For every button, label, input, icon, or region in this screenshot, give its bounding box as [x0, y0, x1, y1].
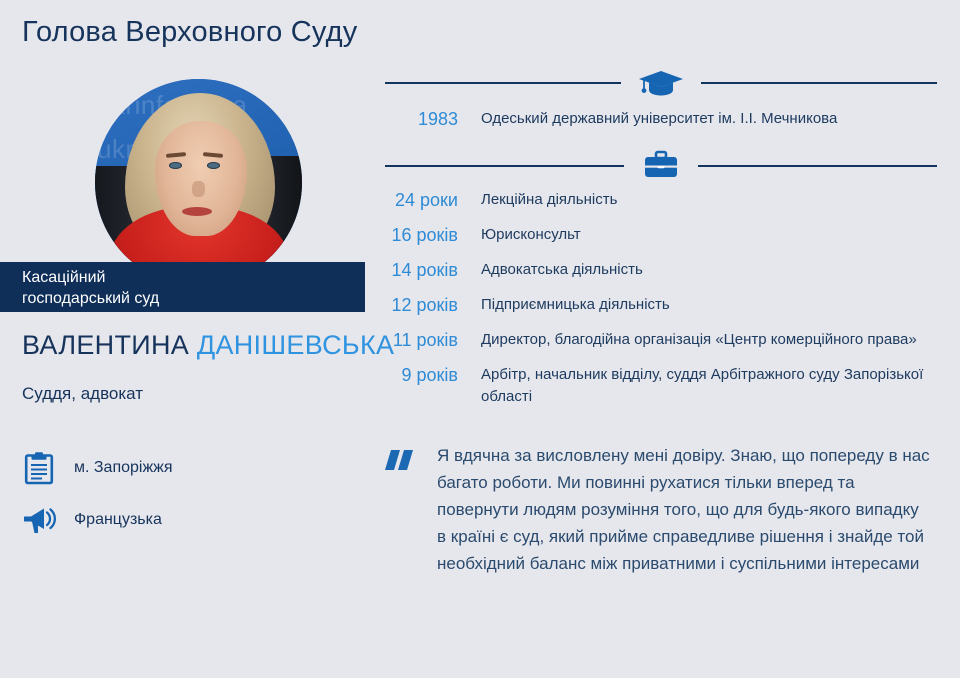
experience-desc: Лекційна діяльність [481, 189, 617, 211]
experience-duration: 16 років [385, 224, 458, 247]
experience-item: 12 років Підприємницька діяльність [385, 294, 937, 317]
education-item: 1983 Одеський державний університет ім. … [385, 108, 937, 131]
language-label: Французька [74, 511, 162, 529]
photo-lips [182, 207, 212, 216]
graduation-cap-icon [621, 62, 701, 104]
experience-item: 14 років Адвокатська діяльність [385, 259, 937, 282]
photo-eye-left [169, 162, 182, 169]
briefcase-icon [624, 145, 698, 187]
clipboard-icon [22, 451, 56, 485]
portrait-photo: ukrinform.ua ukrinform ukrinfo ukrinf [95, 79, 302, 286]
experience-duration: 12 років [385, 294, 458, 317]
education-list: 1983 Одеський державний університет ім. … [385, 108, 937, 131]
court-line-1: Касаційний [22, 267, 365, 288]
experience-desc: Директор, благодійна організація «Центр … [481, 329, 917, 351]
experience-desc: Юрисконсульт [481, 224, 581, 246]
experience-section-divider [385, 145, 937, 185]
quote-icon [385, 442, 437, 479]
experience-desc: Підприємницька діяльність [481, 294, 670, 316]
profile-panel: ukrinform.ua ukrinform ukrinfo ukrinf Ка… [0, 62, 375, 678]
page-title: Голова Верховного Суду [22, 16, 357, 49]
experience-duration: 9 років [385, 364, 458, 387]
experience-desc: Адвокатська діяльність [481, 259, 643, 281]
person-role: Суддя, адвокат [22, 384, 143, 404]
megaphone-icon [22, 503, 56, 537]
court-line-2: господарський суд [22, 288, 365, 309]
education-section-divider [385, 62, 937, 102]
education-year: 1983 [385, 108, 458, 131]
experience-duration: 24 роки [385, 189, 458, 212]
experience-duration: 14 років [385, 259, 458, 282]
experience-list: 24 роки Лекційна діяльність 16 років Юри… [385, 189, 937, 408]
person-last-name: ДАНІШЕВСЬКА [197, 330, 394, 360]
city-row: м. Запоріжжя [22, 451, 173, 485]
photo-face [155, 121, 247, 236]
details-panel: 1983 Одеський державний університет ім. … [385, 0, 937, 678]
language-row: Французька [22, 503, 162, 537]
court-banner: Касаційний господарський суд [0, 262, 365, 312]
photo-nose [192, 181, 205, 197]
experience-item: 11 років Директор, благодійна організаці… [385, 329, 937, 352]
person-first-name: ВАЛЕНТИНА [22, 330, 189, 360]
experience-desc: Арбітр, начальник відділу, суддя Арбітра… [481, 364, 936, 408]
education-desc: Одеський державний університет ім. І.І. … [481, 108, 837, 130]
experience-item: 9 років Арбітр, начальник відділу, суддя… [385, 364, 937, 408]
photo-eye-right [207, 162, 220, 169]
experience-item: 24 роки Лекційна діяльність [385, 189, 937, 212]
experience-duration: 11 років [385, 329, 458, 352]
person-name: ВАЛЕНТИНА ДАНІШЕВСЬКА [22, 330, 394, 361]
experience-item: 16 років Юрисконсульт [385, 224, 937, 247]
city-label: м. Запоріжжя [74, 459, 173, 477]
quote-text: Я вдячна за висловлену мені довіру. Знаю… [437, 442, 932, 577]
quote-block: Я вдячна за висловлену мені довіру. Знаю… [385, 442, 937, 577]
